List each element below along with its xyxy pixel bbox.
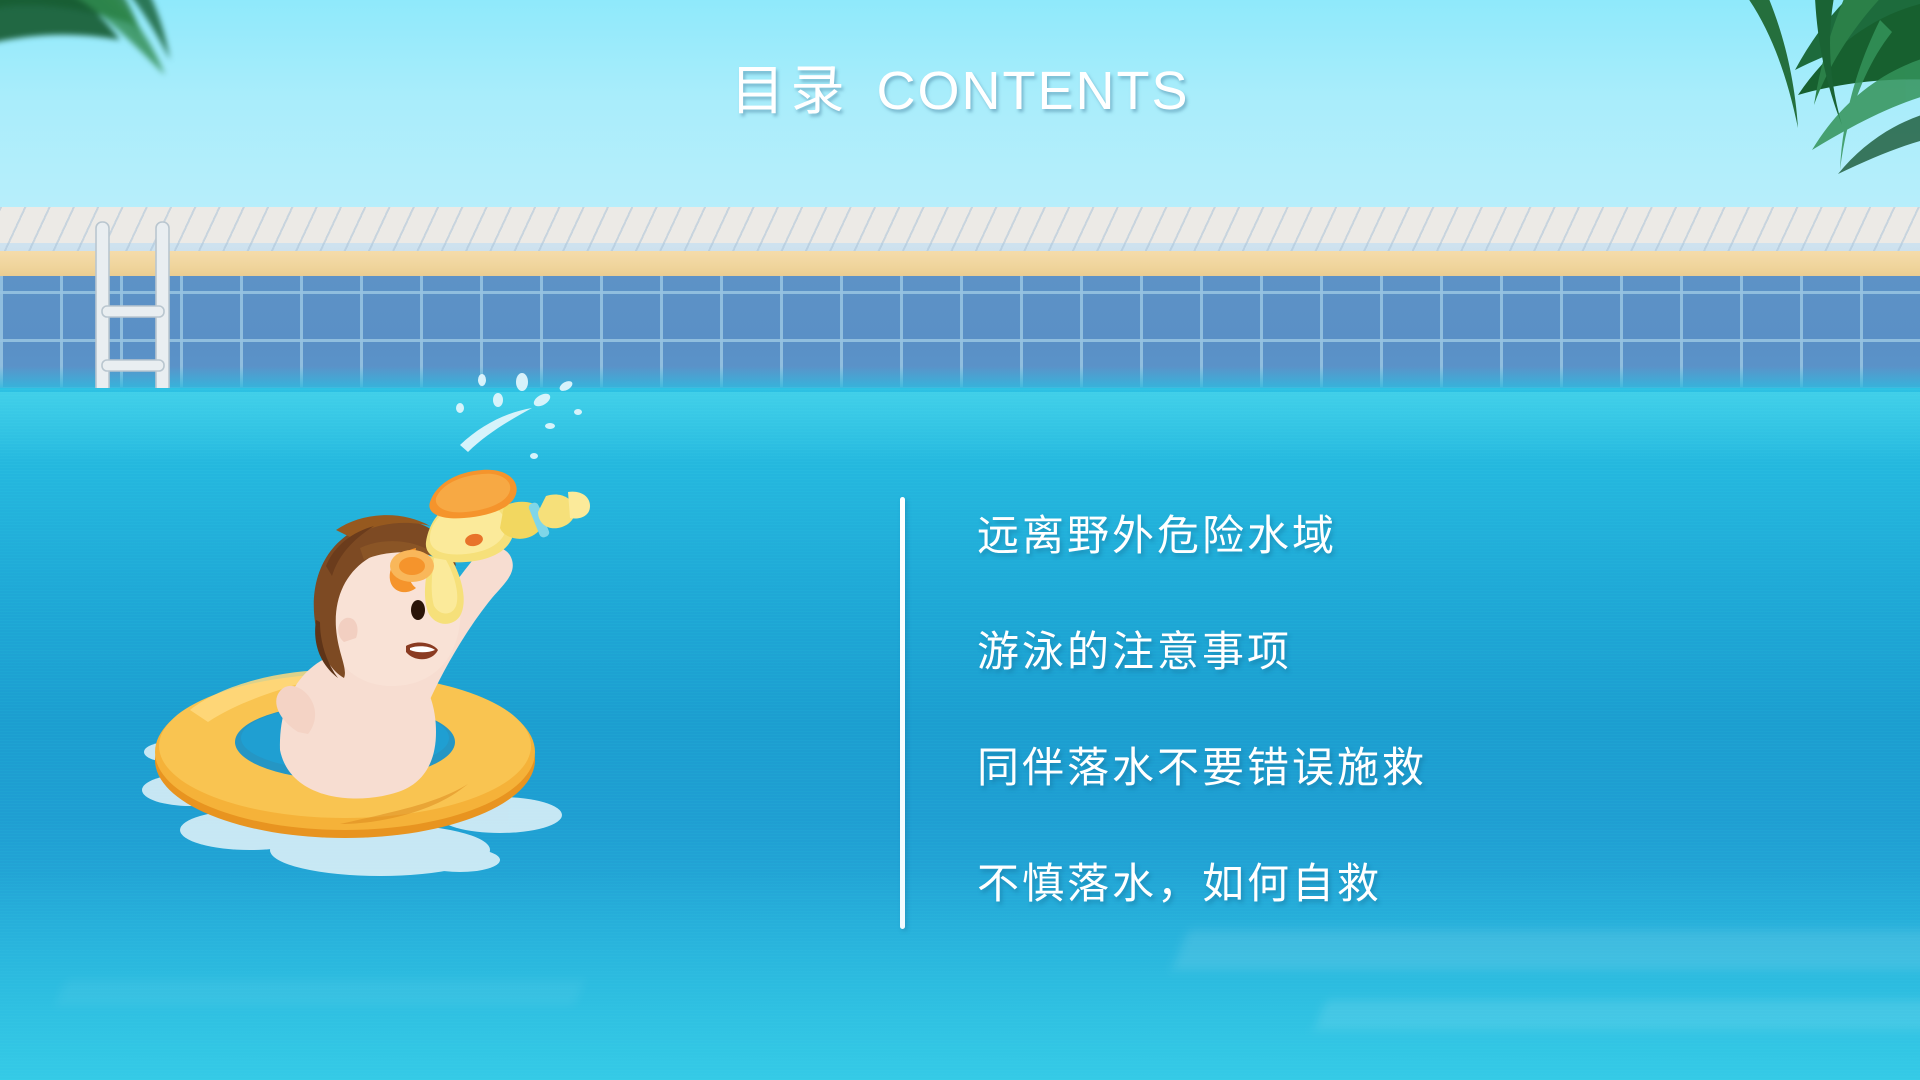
pool-deck bbox=[0, 207, 1920, 257]
contents-item-4[interactable]: 不慎落水，如何自救 bbox=[977, 857, 1427, 913]
contents-items: 远离野外危险水域 游泳的注意事项 同伴落水不要错误施救 不慎落水，如何自救 bbox=[905, 497, 1427, 929]
water-streak bbox=[1314, 1000, 1920, 1030]
contents-item-2[interactable]: 游泳的注意事项 bbox=[977, 625, 1427, 681]
slide-title-cn: 目录 bbox=[731, 61, 851, 121]
contents-item-3[interactable]: 同伴落水不要错误施救 bbox=[977, 741, 1427, 797]
water-streak bbox=[55, 980, 586, 1006]
contents-list: 远离野外危险水域 游泳的注意事项 同伴落水不要错误施救 不慎落水，如何自救 bbox=[900, 497, 1427, 929]
slide-title: 目录CONTENTS bbox=[0, 58, 1920, 124]
presentation-slide: 目录CONTENTS bbox=[0, 0, 1920, 1080]
boy-with-water-gun-illustration bbox=[130, 360, 690, 880]
contents-item-1[interactable]: 远离野外危险水域 bbox=[977, 509, 1427, 565]
water-streak bbox=[1172, 930, 1920, 970]
slide-title-en: CONTENTS bbox=[877, 61, 1190, 121]
water-spray-icon bbox=[456, 373, 582, 459]
